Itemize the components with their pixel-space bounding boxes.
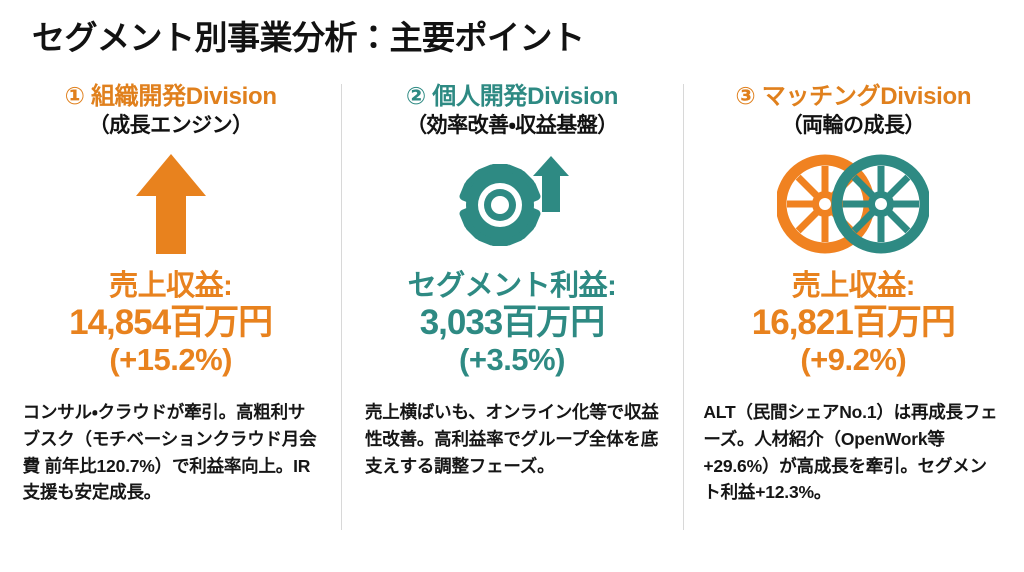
segment-column-organization-development: ① 組織開発Division （成長エンジン） 売上収益: 14,854百万円 …	[0, 82, 341, 544]
up-arrow-icon	[134, 152, 208, 261]
column-body-text: 売上横ばいも、オンライン化等で収益性改善。高利益率でグループ全体を底支えする調整…	[365, 399, 659, 479]
column-heading-main: ① 組織開発Division	[65, 82, 277, 111]
column-body-text: ALT（民間シェアNo.1）は再成長フェーズ。人材紹介（OpenWork等+29…	[703, 399, 1003, 505]
segment-column-individual-development: ② 個人開発Division （効率改善・収益基盤）	[341, 82, 682, 544]
page-title: セグメント別事業分析：主要ポイント	[32, 18, 585, 58]
slide-root: セグメント別事業分析：主要ポイント ① 組織開発Division （成長エンジン…	[0, 0, 1024, 572]
metric-block: セグメント利益: 3,033百万円 (+3.5%)	[408, 271, 617, 377]
column-heading-sub: （効率改善・収益基盤）	[406, 113, 618, 139]
column-heading: ① 組織開発Division （成長エンジン）	[65, 82, 277, 139]
two-wheels-icon	[777, 154, 929, 259]
gear-with-up-arrow-icon	[450, 152, 574, 261]
metric-delta: (+3.5%)	[408, 343, 617, 377]
metric-label: 売上収益:	[69, 271, 272, 303]
column-icon-area	[777, 149, 929, 265]
metric-delta: (+15.2%)	[69, 343, 272, 377]
column-heading: ③ マッチングDivision （両輪の成長）	[735, 82, 971, 139]
column-heading-main: ② 個人開発Division	[406, 82, 618, 111]
metric-value: 16,821百万円	[752, 304, 955, 343]
metric-delta: (+9.2%)	[752, 343, 955, 377]
metric-value: 14,854百万円	[69, 304, 272, 343]
segment-columns: ① 組織開発Division （成長エンジン） 売上収益: 14,854百万円 …	[0, 82, 1024, 544]
segment-column-matching: ③ マッチングDivision （両輪の成長）	[683, 82, 1024, 544]
column-icon-area	[450, 149, 574, 265]
metric-label: 売上収益:	[752, 271, 955, 303]
column-heading-sub: （両輪の成長）	[735, 113, 971, 139]
column-heading-main: ③ マッチングDivision	[735, 82, 971, 111]
column-heading-sub: （成長エンジン）	[65, 113, 277, 139]
metric-block: 売上収益: 14,854百万円 (+15.2%)	[69, 271, 272, 377]
column-heading: ② 個人開発Division （効率改善・収益基盤）	[406, 82, 618, 139]
column-icon-area	[134, 149, 208, 265]
metric-value: 3,033百万円	[408, 304, 617, 343]
column-body-text: コンサル・クラウドが牽引。高粗利サブスク（モチベーションクラウド月会費 前年比1…	[23, 399, 319, 505]
metric-label: セグメント利益:	[408, 271, 617, 303]
metric-block: 売上収益: 16,821百万円 (+9.2%)	[752, 271, 955, 377]
